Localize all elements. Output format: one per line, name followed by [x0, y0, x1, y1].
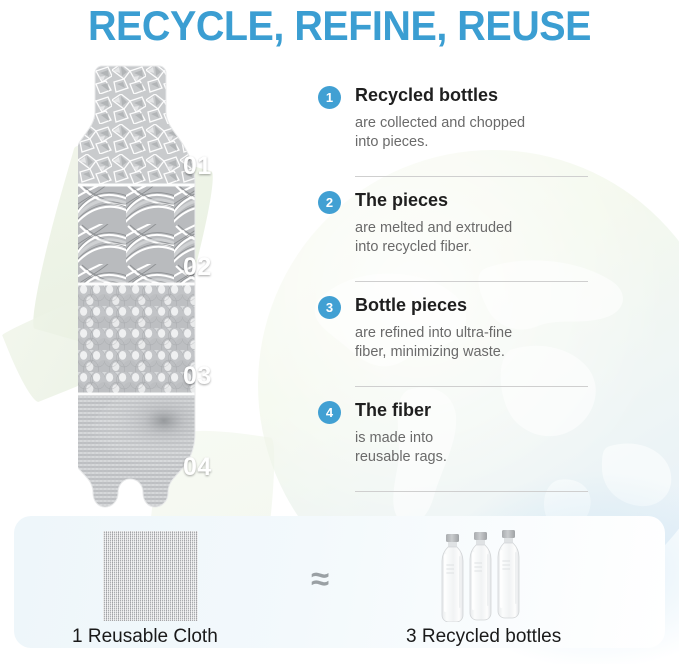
recycled-bottles-icon [438, 530, 546, 622]
step-header-2: 2 The pieces [318, 189, 598, 214]
segment-number-04: 04 [183, 453, 212, 482]
step-header-1: 1 Recycled bottles [318, 84, 598, 109]
step-divider-3 [355, 386, 588, 387]
step-item-4: 4 The fiber is made into reusable rags. [318, 399, 598, 504]
step-item-3: 3 Bottle pieces are refined into ultra-f… [318, 294, 598, 399]
segment-number-03: 03 [183, 362, 212, 391]
step-body-1: are collected and chopped into pieces. [355, 114, 598, 152]
step-divider-2 [355, 281, 588, 282]
step-body-3: are refined into ultra-fine fiber, minim… [355, 324, 598, 362]
step-header-4: 4 The fiber [318, 399, 598, 424]
segment-number-02: 02 [183, 253, 212, 282]
steps-list: 1 Recycled bottles are collected and cho… [318, 84, 598, 504]
step-body-4: is made into reusable rags. [355, 429, 598, 467]
step-item-1: 1 Recycled bottles are collected and cho… [318, 84, 598, 189]
bottles-label: 3 Recycled bottles [406, 626, 561, 648]
bottle-glyph-2 [470, 532, 491, 620]
bottle-segment-1 [78, 64, 258, 186]
step-badge-4: 4 [318, 401, 341, 424]
segment-number-01: 01 [183, 152, 212, 181]
step-title-1: Recycled bottles [355, 84, 498, 106]
step-badge-3: 3 [318, 296, 341, 319]
step-divider-4 [355, 491, 588, 492]
page-title: RECYCLE, REFINE, REUSE [20, 0, 658, 52]
step-body-2: are melted and extruded into recycled fi… [355, 219, 598, 257]
approximately-equal-icon: ≈ [300, 562, 340, 596]
infographic-canvas: RECYCLE, REFINE, REUSE [0, 0, 679, 664]
step-item-2: 2 The pieces are melted and extruded int… [318, 189, 598, 294]
bottle-diagram [78, 64, 258, 508]
reusable-cloth-swatch [103, 531, 198, 621]
step-title-3: Bottle pieces [355, 294, 467, 316]
step-badge-1: 1 [318, 86, 341, 109]
step-title-2: The pieces [355, 189, 448, 211]
cloth-label: 1 Reusable Cloth [72, 626, 218, 648]
bottle-glyph-1 [442, 534, 463, 622]
bottle-glyph-3 [498, 530, 519, 618]
step-title-4: The fiber [355, 399, 431, 421]
bottle-segment-3 [78, 284, 258, 394]
step-divider-1 [355, 176, 588, 177]
bottle-segment-2 [78, 186, 258, 284]
step-badge-2: 2 [318, 191, 341, 214]
step-header-3: 3 Bottle pieces [318, 294, 598, 319]
